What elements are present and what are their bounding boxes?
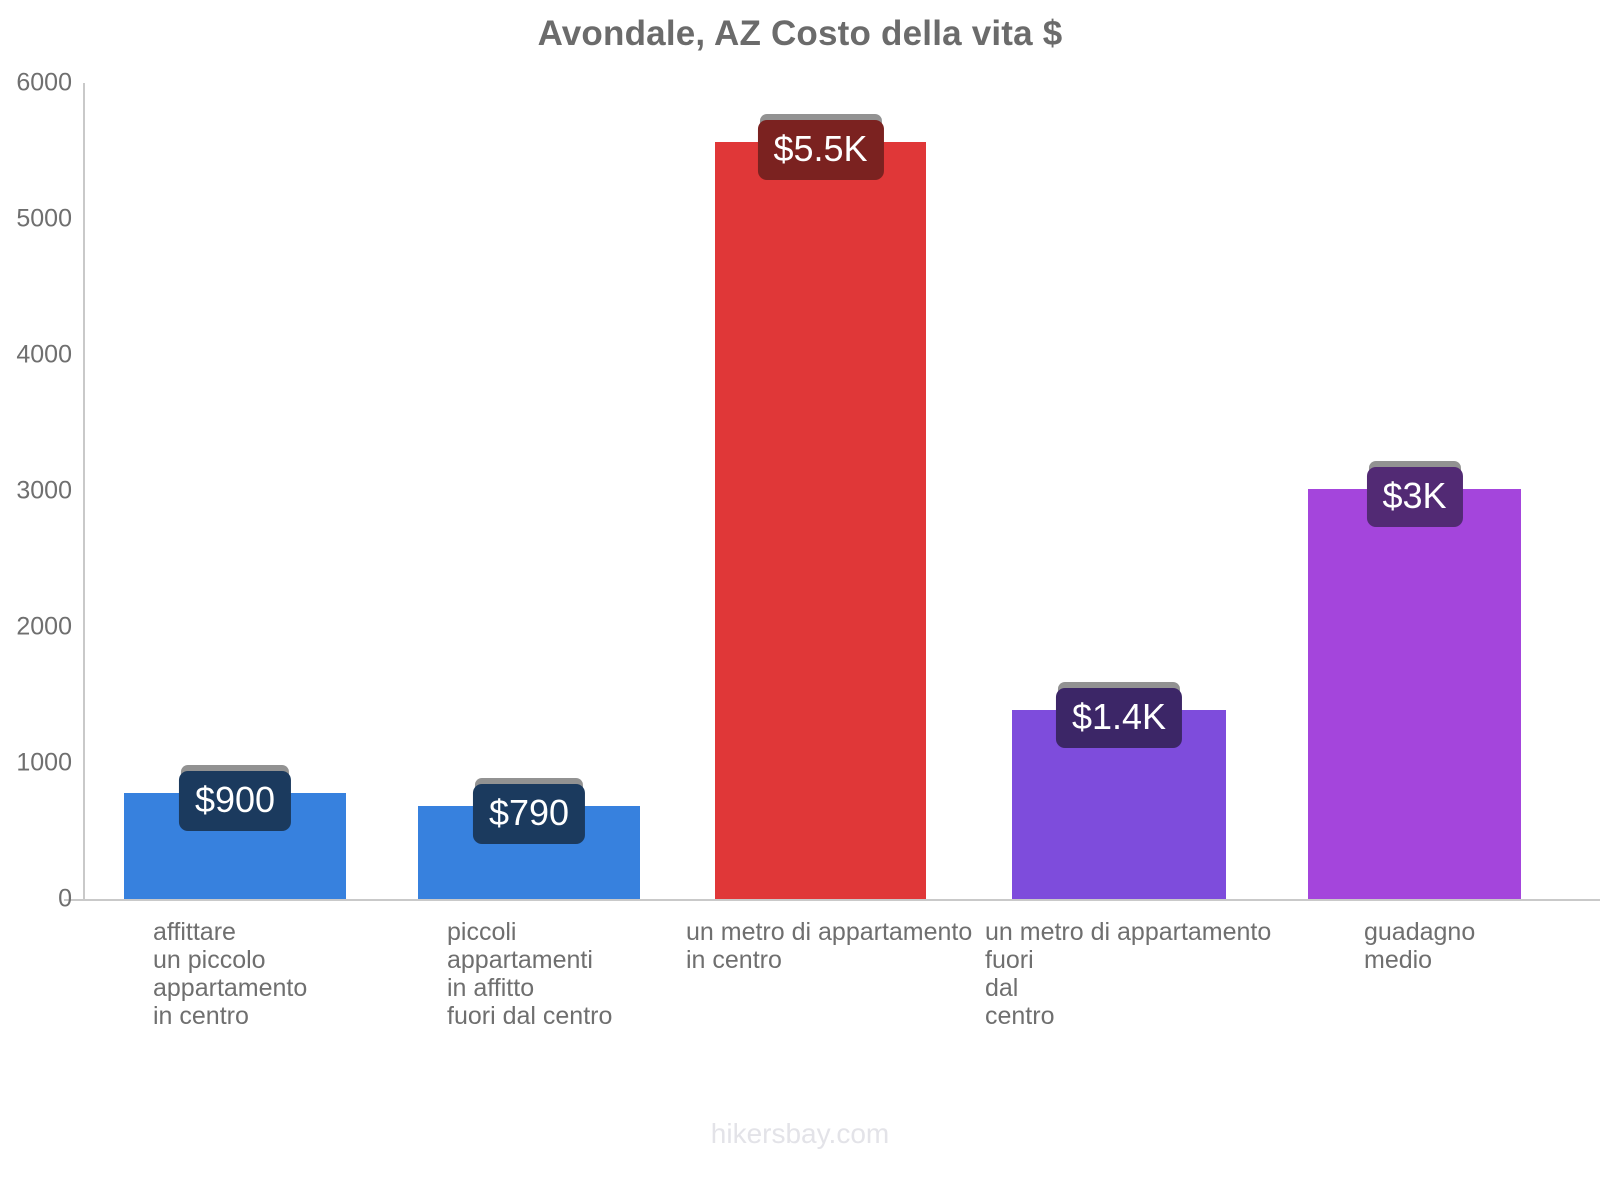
bar-5[interactable]: $3K	[1308, 489, 1521, 899]
y-tick-2000: 2000	[0, 613, 72, 642]
y-tick-5000: 5000	[0, 205, 72, 234]
y-tick-6000: 6000	[0, 69, 72, 98]
y-tick-1000: 1000	[0, 749, 72, 778]
x-label-2: piccoli appartamenti in affitto fuori da…	[447, 918, 612, 1030]
bar-value-label-4: $1.4K	[1056, 688, 1182, 748]
x-label-4: un metro di appartamento fuori dal centr…	[985, 918, 1271, 1030]
footer-watermark: hikersbay.com	[0, 1118, 1600, 1150]
bar-value-label-1: $900	[179, 771, 291, 831]
x-axis-baseline	[64, 899, 1600, 901]
x-label-1: affittare un piccolo appartamento in cen…	[153, 918, 307, 1030]
bar-1[interactable]: $900	[124, 793, 346, 899]
y-tick-0: 0	[0, 885, 72, 914]
bar-value-label-5: $3K	[1366, 467, 1462, 527]
x-label-3: un metro di appartamento in centro	[686, 918, 972, 974]
y-tick-4000: 4000	[0, 341, 72, 370]
bar-value-label-2: $790	[473, 784, 585, 844]
bar-2[interactable]: $790	[418, 806, 640, 899]
bar-3[interactable]: $5.5K	[715, 142, 926, 899]
bar-4[interactable]: $1.4K	[1012, 710, 1226, 899]
y-axis-line	[83, 83, 85, 901]
x-label-5: guadagno medio	[1364, 918, 1475, 974]
y-tick-3000: 3000	[0, 477, 72, 506]
bar-value-label-3: $5.5K	[757, 120, 883, 180]
cost-of-living-bar-chart: Avondale, AZ Costo della vita $ 60005000…	[0, 0, 1600, 1200]
chart-title: Avondale, AZ Costo della vita $	[0, 14, 1600, 54]
